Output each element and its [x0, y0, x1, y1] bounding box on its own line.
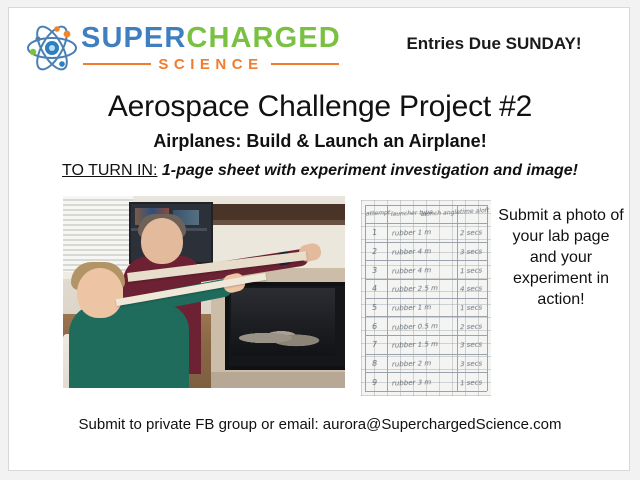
notebook-header-cell: launch angle [420, 209, 460, 218]
notebook-cell-time: 3 secs [459, 360, 483, 369]
atom-icon [24, 24, 80, 72]
photo-boy-front-head [77, 268, 123, 318]
notebook-row-rule [365, 354, 487, 355]
logo-word-charged: CHARGED [186, 22, 340, 54]
notebook-row-rule [365, 205, 487, 206]
notebook-table: attemptlauncher typelaunch angletime alo… [365, 205, 487, 391]
notebook-cell-launcher: rubber 0.5 m [391, 322, 439, 332]
notebook-row-rule [365, 298, 487, 299]
notebook-row-rule [365, 242, 487, 243]
notebook-row-number: 8 [371, 359, 377, 368]
turn-in-label: TO TURN IN: [62, 162, 157, 179]
notebook-row-rule [365, 372, 487, 373]
photo-fireplace-logs [239, 326, 327, 350]
notebook-cell-launcher: rubber 3 m [391, 378, 432, 387]
notebook-cell-launcher: rubber 1 m [391, 303, 432, 312]
logo-word-science: SCIENCE [158, 56, 263, 73]
notebook-cell-time: 1 secs [459, 378, 483, 387]
notebook-row-number: 6 [371, 321, 377, 330]
notebook-cell-launcher: rubber 4 m [391, 247, 432, 256]
notebook-header-cell: time aloft [459, 207, 490, 215]
notebook-row-number: 1 [371, 228, 377, 237]
notebook-cell-time: 4 secs [459, 285, 483, 294]
logo-rule-left [83, 63, 151, 65]
logo-subline: SCIENCE [83, 54, 339, 74]
notebook-row-number: 7 [371, 340, 377, 349]
notebook-cell-launcher: rubber 2 m [391, 359, 432, 368]
slide-frame: SUPERCHARGED SCIENCE Entries Due SUNDAY!… [0, 0, 640, 480]
notebook-row-rule [365, 316, 487, 317]
page-subtitle: Airplanes: Build & Launch an Airplane! [9, 131, 630, 152]
notebook-column-rule [487, 205, 488, 391]
notebook-row-number: 5 [371, 303, 377, 312]
experiment-photo [63, 196, 345, 388]
notebook-row-number: 3 [371, 265, 377, 274]
slide-canvas: SUPERCHARGED SCIENCE Entries Due SUNDAY!… [8, 7, 630, 471]
photo-boy-front-body [69, 304, 189, 388]
logo-rule-right [271, 63, 339, 65]
supercharged-science-logo: SUPERCHARGED SCIENCE [21, 18, 341, 76]
submit-callout: Submit a photo of your lab page and your… [497, 205, 625, 310]
notebook-cell-time: 3 secs [459, 341, 483, 350]
photo-boy-back-head [141, 218, 183, 264]
submission-footer: Submit to private FB group or email: aur… [9, 416, 630, 433]
photo-mantel [203, 204, 345, 220]
notebook-cell-time: 3 secs [459, 248, 483, 257]
page-title: Aerospace Challenge Project #2 [9, 90, 630, 124]
notebook-row-rule [365, 223, 487, 224]
notebook-row-rule [365, 391, 487, 392]
notebook-cell-launcher: rubber 4 m [391, 266, 432, 275]
logo-word-super: SUPER [81, 22, 186, 54]
turn-in-detail: 1-page sheet with experiment investigati… [162, 162, 578, 179]
notebook-cell-time: 2 secs [459, 229, 483, 238]
notebook-row-number: 4 [371, 284, 377, 293]
notebook-cell-time: 2 secs [459, 322, 483, 331]
lab-page-photo: attemptlauncher typelaunch angletime alo… [361, 200, 491, 396]
notebook-cell-launcher: rubber 2.5 m [391, 284, 439, 294]
entries-due-note: Entries Due SUNDAY! [369, 34, 619, 54]
notebook-row-rule [365, 260, 487, 261]
notebook-header-cell: attempt [365, 209, 391, 217]
logo-wordmark: SUPERCHARGED [81, 23, 339, 53]
notebook-cell-time: 1 secs [459, 304, 483, 313]
notebook-cell-launcher: rubber 1 m [391, 229, 432, 238]
turn-in-line: TO TURN IN: 1-page sheet with experiment… [9, 162, 630, 180]
notebook-row-rule [365, 335, 487, 336]
notebook-row-number: 2 [371, 247, 377, 256]
photo-hearth [211, 372, 345, 388]
notebook-cell-launcher: rubber 1.5 m [391, 340, 439, 350]
notebook-row-rule [365, 279, 487, 280]
notebook-cell-time: 1 secs [459, 266, 483, 275]
notebook-row-number: 9 [371, 377, 377, 386]
